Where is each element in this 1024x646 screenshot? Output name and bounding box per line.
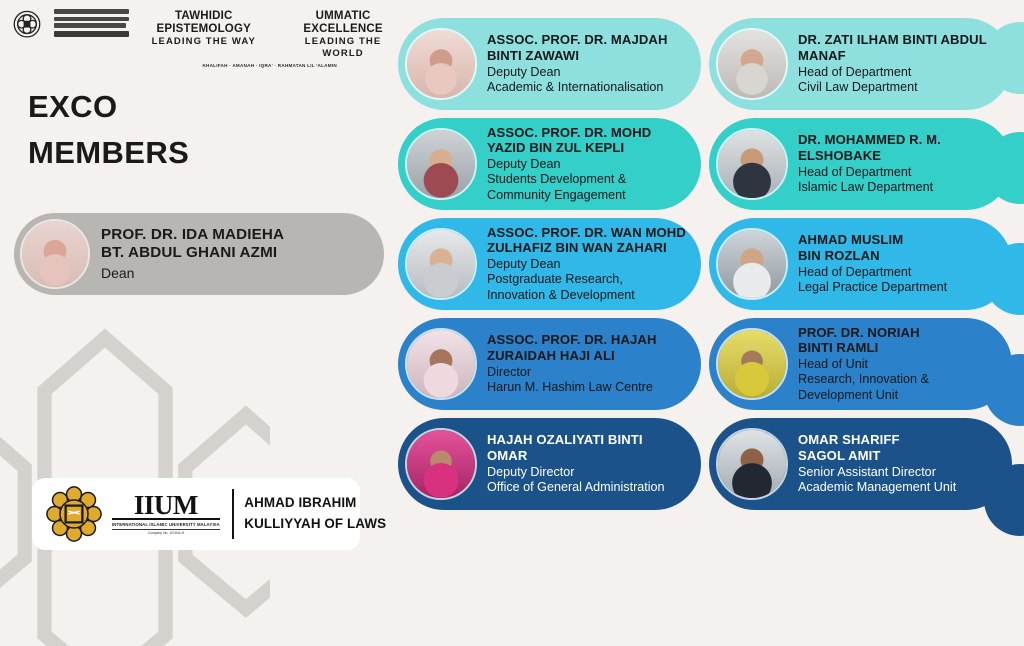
member-role-line2: Academic & Internationalisation <box>487 80 668 95</box>
member-avatar <box>716 228 788 300</box>
member-name-line1: HAJAH OZALIYATI BINTI <box>487 432 665 448</box>
member-role-line1: Deputy Director <box>487 465 665 480</box>
member-role: Head of DepartmentIslamic Law Department <box>798 165 941 196</box>
member-role-line2: Office of General Administration <box>487 480 665 495</box>
iium-company-number: Company No. 101844-H <box>112 531 220 535</box>
member-role: Head of DepartmentCivil Law Department <box>798 65 987 96</box>
member-row: HAJAH OZALIYATI BINTIOMARDeputy Director… <box>398 418 1012 510</box>
member-role-line1: Head of Department <box>798 65 987 80</box>
member-row: ASSOC. PROF. DR. MAJDAHBINTI ZAWAWIDeput… <box>398 18 1012 110</box>
member-role-line3: Development Unit <box>798 388 929 403</box>
exco-member-grid: ASSOC. PROF. DR. MAJDAHBINTI ZAWAWIDeput… <box>398 18 1012 510</box>
member-role: Deputy DirectorOffice of General Adminis… <box>487 465 665 496</box>
member-name-line1: AHMAD MUSLIM <box>798 232 947 248</box>
brand-tagline: TAWHIDIC EPISTEMOLOGY LEADING THE WAY UM… <box>139 8 400 68</box>
member-info: DR. MOHAMMED R. M.ELSHOBAKEHead of Depar… <box>788 132 947 195</box>
tagline-right-main: UMMATIC EXCELLENCE <box>286 10 400 36</box>
member-role-line1: Deputy Dean <box>487 157 651 172</box>
arabic-wordmark <box>54 8 129 39</box>
member-role-line2: Research, Innovation & <box>798 372 929 387</box>
iium-acronym: IIUM <box>112 493 220 521</box>
member-name: PROF. DR. NORIAHBINTI RAMLI <box>798 325 929 356</box>
dean-card[interactable]: PROF. DR. IDA MADIEHA BT. ABDUL GHANI AZ… <box>14 213 384 295</box>
member-name: AHMAD MUSLIMBIN ROZLAN <box>798 232 947 263</box>
member-role: Deputy DeanAcademic & Internationalisati… <box>487 65 668 96</box>
member-card[interactable]: ASSOC. PROF. DR. MAJDAHBINTI ZAWAWIDeput… <box>398 18 701 110</box>
member-name-line1: ASSOC. PROF. DR. WAN MOHD <box>487 225 686 241</box>
page-title: EXCO MEMBERS <box>28 84 189 176</box>
member-name-line2: BIN ROZLAN <box>798 248 947 264</box>
member-name-line1: DR. ZATI ILHAM BINTI ABDUL <box>798 32 987 48</box>
page-title-line1: EXCO <box>28 84 189 130</box>
member-card[interactable]: ASSOC. PROF. DR. WAN MOHDZULHAFIZ BIN WA… <box>398 218 701 310</box>
member-card[interactable]: DR. ZATI ILHAM BINTI ABDULMANAFHead of D… <box>709 18 1012 110</box>
member-avatar <box>405 128 477 200</box>
member-role-line1: Deputy Dean <box>487 257 686 272</box>
lockup-divider <box>232 489 235 539</box>
member-info: DR. ZATI ILHAM BINTI ABDULMANAFHead of D… <box>788 32 993 95</box>
faculty-name: AHMAD IBRAHIM KULLIYYAH OF LAWS <box>244 493 386 535</box>
member-info: PROF. DR. NORIAHBINTI RAMLIHead of UnitR… <box>788 325 935 404</box>
member-role-line3: Innovation & Development <box>487 288 686 303</box>
member-name-line1: PROF. DR. NORIAH <box>798 325 929 341</box>
member-row: ASSOC. PROF. DR. MOHDYAZID BIN ZUL KEPLI… <box>398 118 1012 210</box>
member-name: ASSOC. PROF. DR. WAN MOHDZULHAFIZ BIN WA… <box>487 225 686 256</box>
member-avatar <box>716 128 788 200</box>
faculty-logo-lockup: IIUM INTERNATIONAL ISLAMIC UNIVERSITY MA… <box>32 478 360 550</box>
member-role-line2: Islamic Law Department <box>798 180 941 195</box>
member-avatar <box>716 428 788 500</box>
member-name-line1: ASSOC. PROF. DR. MOHD <box>487 125 651 141</box>
tagline-left-main: TAWHIDIC EPISTEMOLOGY <box>139 10 268 36</box>
member-avatar <box>405 328 477 400</box>
member-name: DR. ZATI ILHAM BINTI ABDULMANAF <box>798 32 987 63</box>
member-role-line2: Civil Law Department <box>798 80 987 95</box>
member-name: ASSOC. PROF. DR. MAJDAHBINTI ZAWAWI <box>487 32 668 63</box>
member-name: OMAR SHARIFFSAGOL AMIT <box>798 432 956 463</box>
member-card[interactable]: OMAR SHARIFFSAGOL AMITSenior Assistant D… <box>709 418 1012 510</box>
member-info: AHMAD MUSLIMBIN ROZLANHead of Department… <box>788 232 953 295</box>
member-role-line2: Academic Management Unit <box>798 480 956 495</box>
member-role: Deputy DeanPostgraduate Research,Innovat… <box>487 257 686 303</box>
member-role-line2: Postgraduate Research, <box>487 272 686 287</box>
faculty-name-line2: KULLIYYAH OF LAWS <box>244 514 386 535</box>
member-role: Head of UnitResearch, Innovation &Develo… <box>798 357 929 403</box>
dean-info: PROF. DR. IDA MADIEHA BT. ABDUL GHANI AZ… <box>90 226 284 282</box>
member-info: ASSOC. PROF. DR. WAN MOHDZULHAFIZ BIN WA… <box>477 225 692 304</box>
member-name-line1: ASSOC. PROF. DR. HAJAH <box>487 332 657 348</box>
member-name-line2: BINTI RAMLI <box>798 340 929 356</box>
member-role: DirectorHarun M. Hashim Law Centre <box>487 365 657 396</box>
member-name-line2: ELSHOBAKE <box>798 148 941 164</box>
member-role-line2: Students Development & <box>487 172 651 187</box>
member-name-line2: OMAR <box>487 448 665 464</box>
member-avatar <box>405 428 477 500</box>
member-avatar <box>716 28 788 100</box>
member-role: Deputy DeanStudents Development &Communi… <box>487 157 651 203</box>
member-name-line1: DR. MOHAMMED R. M. <box>798 132 941 148</box>
member-name-line2: ZURAIDAH HAJI ALI <box>487 348 657 364</box>
member-avatar <box>716 328 788 400</box>
member-name: DR. MOHAMMED R. M.ELSHOBAKE <box>798 132 941 163</box>
member-role-line1: Senior Assistant Director <box>798 465 956 480</box>
tagline-micro: KHALIFAH · AMANAH · IQRA' · RAHMATAN LIL… <box>139 63 400 68</box>
member-role: Head of DepartmentLegal Practice Departm… <box>798 265 947 296</box>
member-name: ASSOC. PROF. DR. HAJAHZURAIDAH HAJI ALI <box>487 332 657 363</box>
member-card[interactable]: ASSOC. PROF. DR. MOHDYAZID BIN ZUL KEPLI… <box>398 118 701 210</box>
member-name-line2: SAGOL AMIT <box>798 448 956 464</box>
member-name: HAJAH OZALIYATI BINTIOMAR <box>487 432 665 463</box>
page-title-line2: MEMBERS <box>28 130 189 176</box>
brand-header: TAWHIDIC EPISTEMOLOGY LEADING THE WAY UM… <box>0 0 400 60</box>
member-info: ASSOC. PROF. DR. MOHDYAZID BIN ZUL KEPLI… <box>477 125 657 204</box>
member-name-line2: YAZID BIN ZUL KEPLI <box>487 140 651 156</box>
member-name-line2: ZULHAFIZ BIN WAN ZAHARI <box>487 240 686 256</box>
member-role-line1: Head of Department <box>798 265 947 280</box>
member-row: ASSOC. PROF. DR. HAJAHZURAIDAH HAJI ALID… <box>398 318 1012 410</box>
member-row: ASSOC. PROF. DR. WAN MOHDZULHAFIZ BIN WA… <box>398 218 1012 310</box>
iium-crest-icon <box>10 8 44 42</box>
member-card[interactable]: AHMAD MUSLIMBIN ROZLANHead of Department… <box>709 218 1012 310</box>
member-card[interactable]: ASSOC. PROF. DR. HAJAHZURAIDAH HAJI ALID… <box>398 318 701 410</box>
member-name-line1: OMAR SHARIFF <box>798 432 956 448</box>
member-role-line1: Head of Unit <box>798 357 929 372</box>
iium-acronym-block: IIUM INTERNATIONAL ISLAMIC UNIVERSITY MA… <box>112 493 220 536</box>
member-name-line2: BINTI ZAWAWI <box>487 48 668 64</box>
member-card[interactable]: HAJAH OZALIYATI BINTIOMARDeputy Director… <box>398 418 701 510</box>
member-role-line1: Head of Department <box>798 165 941 180</box>
tagline-right-sub: LEADING THE WORLD <box>286 36 400 60</box>
member-info: ASSOC. PROF. DR. MAJDAHBINTI ZAWAWIDeput… <box>477 32 674 95</box>
member-card[interactable]: PROF. DR. NORIAHBINTI RAMLIHead of UnitR… <box>709 318 1012 410</box>
dean-name-line2: BT. ABDUL GHANI AZMI <box>101 244 284 262</box>
dean-avatar <box>20 219 90 289</box>
member-avatar <box>405 228 477 300</box>
member-role-line2: Legal Practice Department <box>798 280 947 295</box>
member-name: ASSOC. PROF. DR. MOHDYAZID BIN ZUL KEPLI <box>487 125 651 156</box>
member-info: HAJAH OZALIYATI BINTIOMARDeputy Director… <box>477 432 671 495</box>
member-name-line1: ASSOC. PROF. DR. MAJDAH <box>487 32 668 48</box>
tagline-left-sub: LEADING THE WAY <box>139 36 268 48</box>
member-name-line2: MANAF <box>798 48 987 64</box>
member-avatar <box>405 28 477 100</box>
iium-flower-crest-icon <box>46 486 102 542</box>
member-role-line2: Harun M. Hashim Law Centre <box>487 380 657 395</box>
member-info: OMAR SHARIFFSAGOL AMITSenior Assistant D… <box>788 432 962 495</box>
member-role: Senior Assistant DirectorAcademic Manage… <box>798 465 956 496</box>
member-info: ASSOC. PROF. DR. HAJAHZURAIDAH HAJI ALID… <box>477 332 663 395</box>
faculty-name-line1: AHMAD IBRAHIM <box>244 493 386 514</box>
member-card[interactable]: DR. MOHAMMED R. M.ELSHOBAKEHead of Depar… <box>709 118 1012 210</box>
member-role-line1: Director <box>487 365 657 380</box>
member-role-line1: Deputy Dean <box>487 65 668 80</box>
member-role-line3: Community Engagement <box>487 188 651 203</box>
dean-role: Dean <box>101 264 284 282</box>
dean-name-line1: PROF. DR. IDA MADIEHA <box>101 226 284 244</box>
iium-acronym-subtitle: INTERNATIONAL ISLAMIC UNIVERSITY MALAYSI… <box>112 522 220 530</box>
